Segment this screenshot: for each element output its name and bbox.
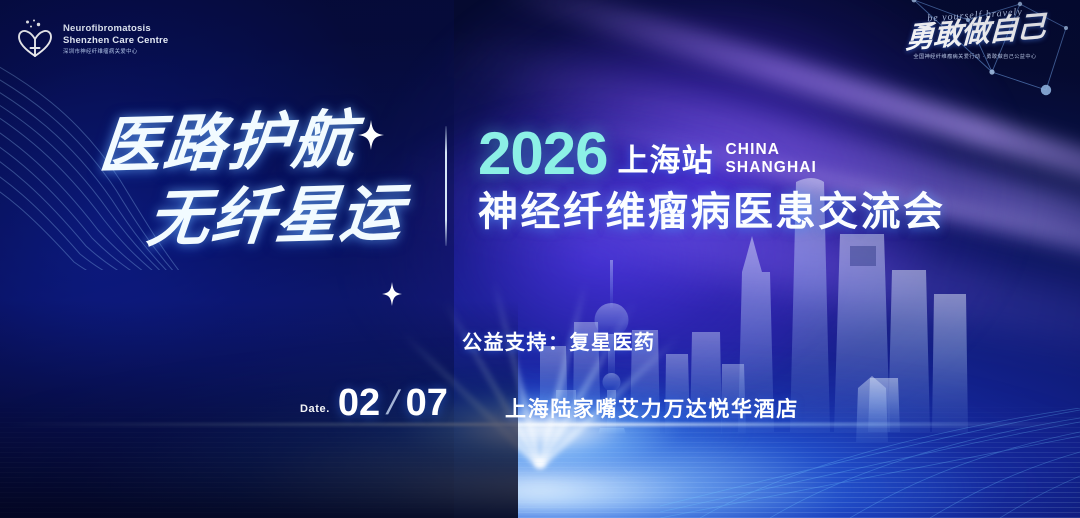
logo-line-en-1: Neurofibromatosis: [63, 23, 168, 34]
date-separator: /: [384, 386, 402, 422]
event-venue: 上海陆家嘴艾力万达悦华酒店: [505, 393, 799, 423]
brand-be-yourself-logo[interactable]: be yourself bravely 勇敢做自己 全国神经纤维瘤病关爱行动 ·…: [900, 10, 1050, 60]
perspective-grid-lines-right: [660, 408, 1080, 518]
brand-subtitle-cn: 全国神经纤维瘤病关爱行动 · 勇敢做自己公益中心: [900, 53, 1050, 60]
nf-care-centre-logo[interactable]: Neurofibromatosis Shenzhen Care Centre 深…: [16, 18, 168, 60]
title-year-row: 2026 上海站 CHINA SHANGHAI: [478, 126, 1038, 181]
headline-line-1: 医路护航: [97, 108, 434, 179]
poster-canvas: Neurofibromatosis Shenzhen Care Centre 深…: [0, 0, 1080, 518]
date-label: Date.: [300, 403, 330, 422]
vertical-divider: [445, 126, 447, 246]
event-title-block: 2026 上海站 CHINA SHANGHAI 神经纤维瘤病医患交流会: [478, 126, 1038, 235]
event-title-cn: 神经纤维瘤病医患交流会: [478, 190, 1038, 235]
date-month: 02: [338, 386, 380, 422]
logo-line-en-2: Shenzhen Care Centre: [63, 35, 168, 46]
location-en-city: SHANGHAI: [725, 159, 816, 176]
location-en-country: CHINA: [725, 141, 816, 158]
event-date: Date. 02 / 07: [300, 386, 448, 422]
nf-butterfly-ribbon-logo-icon: [16, 18, 54, 60]
date-day: 07: [406, 386, 448, 422]
event-location-en: CHINA SHANGHAI: [725, 141, 816, 181]
event-year: 2026: [478, 126, 607, 181]
brush-headline: 医路护航 无纤星运: [100, 112, 430, 272]
logo-line-cn: 深圳市神经纤维瘤病关爱中心: [63, 49, 168, 55]
event-station-cn: 上海站: [617, 145, 713, 181]
sponsor-line: 公益支持：复星医药: [462, 326, 656, 355]
headline-line-2: 无纤星运: [145, 182, 434, 251]
